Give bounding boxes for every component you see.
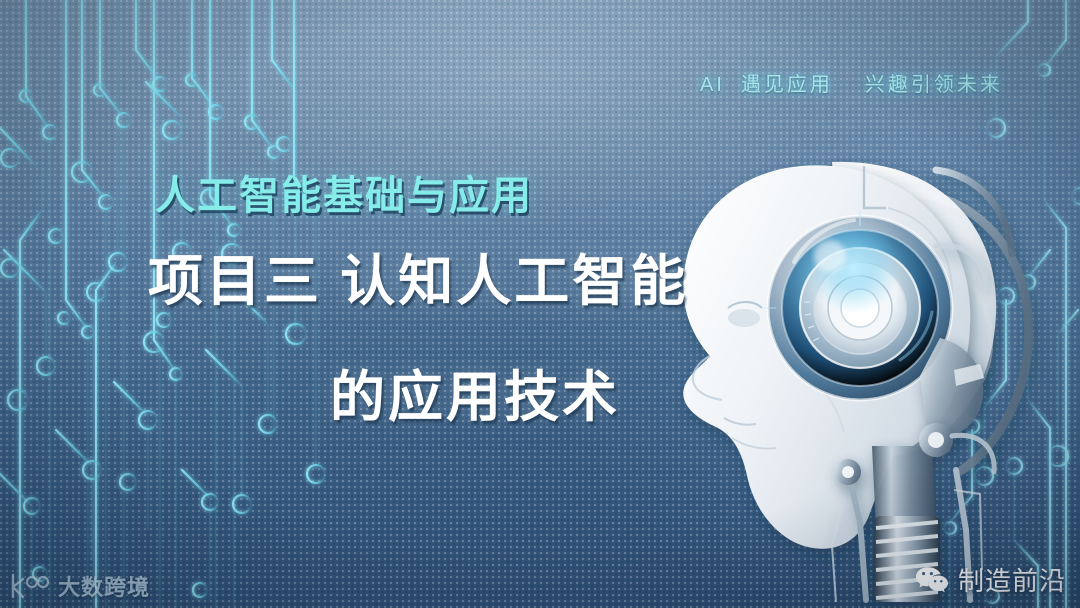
page-title-line-2: 的应用技术 — [0, 352, 700, 432]
page-title-line-1: 项目三 认知人工智能 — [0, 236, 700, 316]
brand-watermark-right: 制造前沿 — [915, 561, 1066, 598]
slide-tagline: AI遇见应用兴趣引领未来 — [700, 68, 1003, 97]
presentation-slide: AI遇见应用兴趣引领未来 人工智能基础与应用 项目三 认知人工智能 的应用技术 … — [0, 0, 1080, 608]
robot-head-illustration — [636, 150, 1080, 608]
brand-left-label: 大数跨境 — [58, 570, 150, 602]
kjoo-logo-icon — [8, 571, 52, 601]
tagline-ai: AI — [700, 74, 725, 96]
brand-right-label: 制造前沿 — [958, 561, 1066, 598]
wechat-icon — [915, 565, 949, 595]
tagline-meet-application: 遇见应用 — [741, 74, 833, 96]
slide-title-block: 项目三 认知人工智能 的应用技术 — [0, 236, 700, 432]
course-subtitle: 人工智能基础与应用 — [155, 163, 533, 221]
tagline-interest-leads-future: 兴趣引领未来 — [865, 74, 1003, 96]
brand-watermark-left: 大数跨境 — [8, 570, 150, 602]
